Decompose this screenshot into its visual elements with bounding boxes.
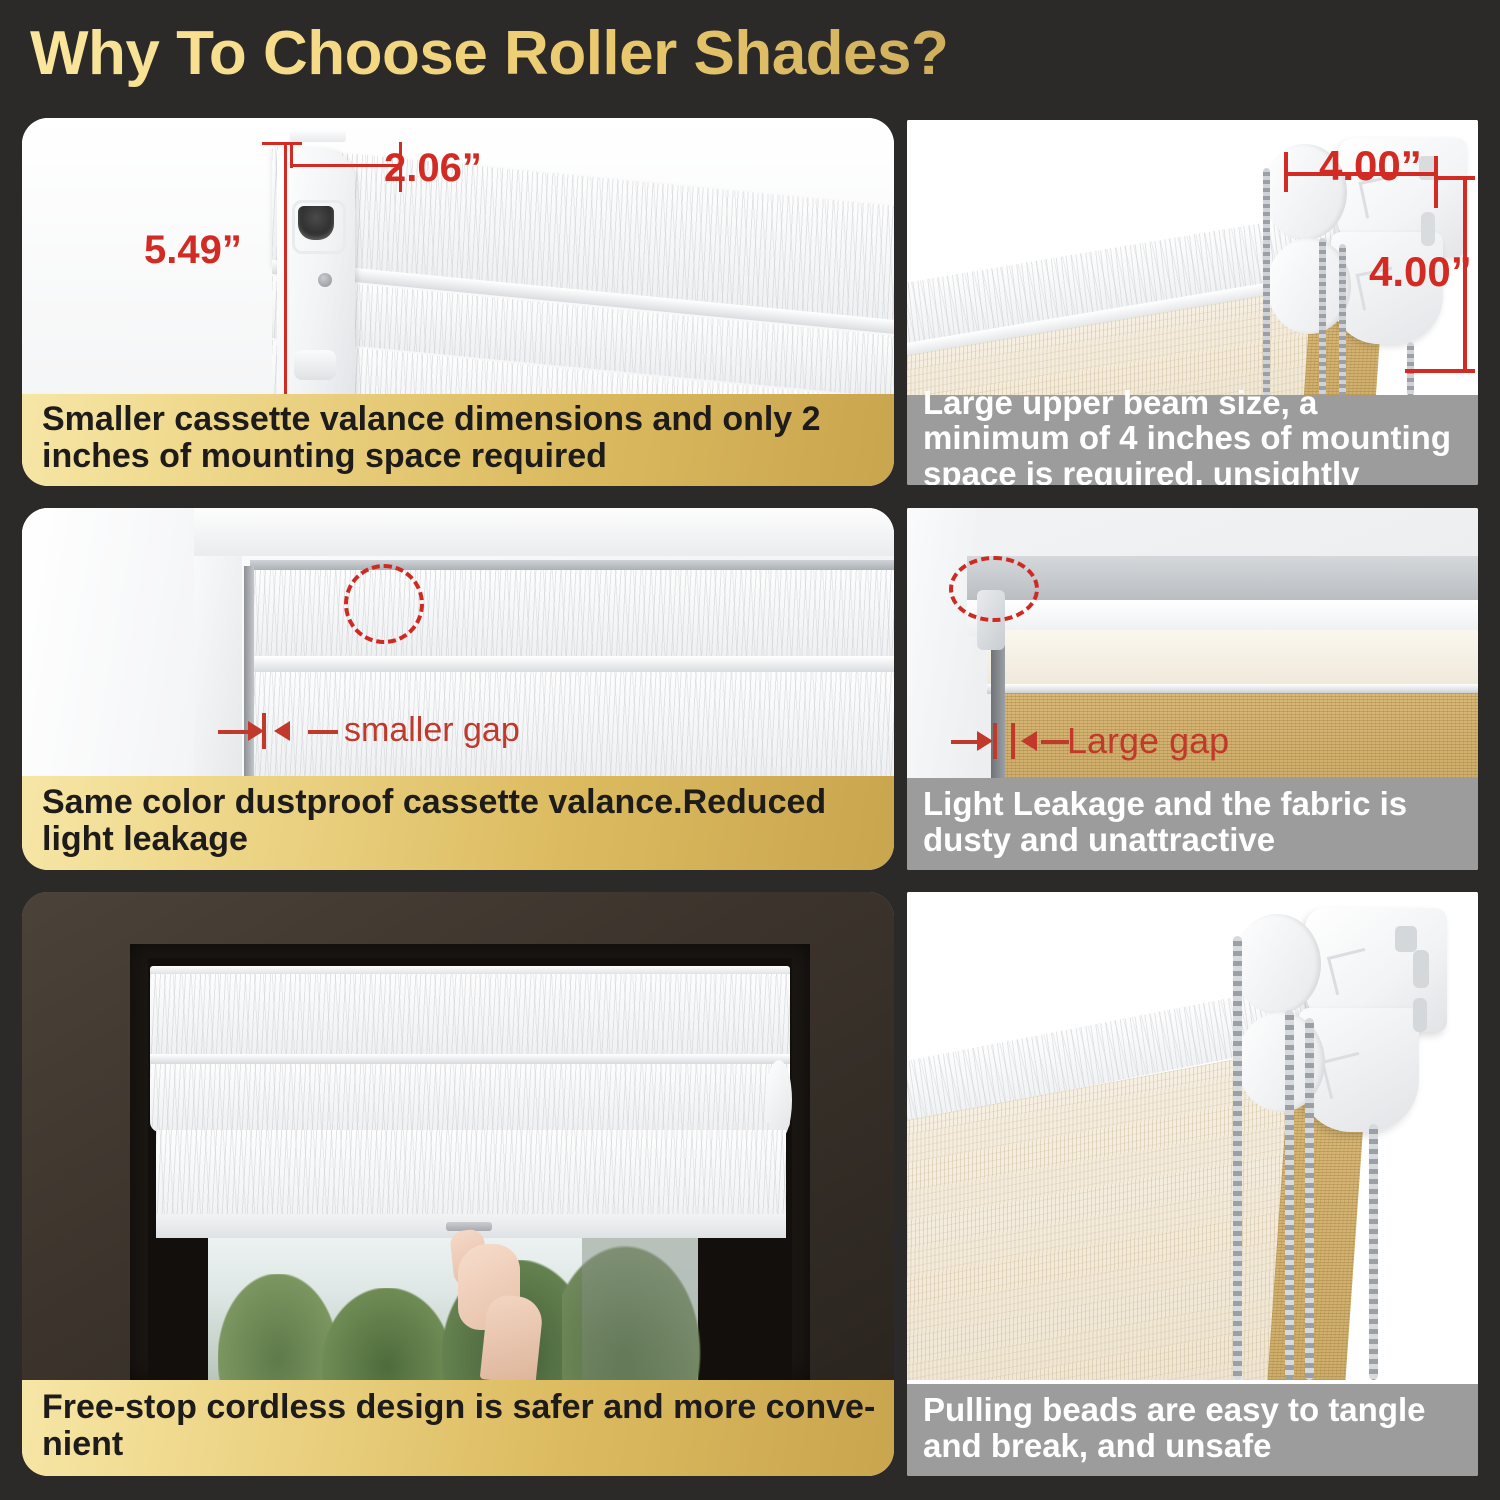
roller-end-cap [766,1060,792,1140]
highlight-circle-gap [344,564,424,644]
panel-pro-cassette-dimensions: 2.06” 5.49” Smaller cassette valance dim… [22,118,894,486]
caption-bar-con-pulling-beads: Pulling beads are easy to tangle and bre… [907,1384,1478,1476]
panel-con-pulling-beads: Pulling beads are easy to tangle and bre… [907,892,1478,1476]
bead-chain-2 [1319,238,1326,395]
panel-pro-cordless-design: Free-stop cordless design is safer and m… [22,892,894,1476]
caption-text: Pulling beads are easy to tangle and bre… [923,1392,1464,1463]
cassette-lower-clip [294,350,336,380]
caption-bar-pro-cassette-dimensions: Smaller cassette valance dimensions and … [22,394,894,486]
screw-icon [318,273,332,287]
dim-width-tick-right-beam [1434,156,1438,208]
fabric-cream-band [987,630,1478,686]
cassette-bracket-ring [292,200,346,254]
gap-arrow-right-shaft [308,730,338,734]
bracket-hole-top [1395,926,1417,952]
dim-height-line [284,142,287,408]
large-gap-tick-right [1011,723,1015,759]
window-glass-reflection [582,1230,698,1380]
bead-chain-3 [1339,244,1346,395]
caption-text: Free-stop cordless design is safer and m… [42,1389,876,1462]
dim-height-tick-top [262,142,302,145]
bead-chain-mid-b [1305,1018,1314,1380]
panel-image-smaller-gap: smaller gap [22,508,894,776]
caption-bar-con-upper-beam-size: Large upper beam size, a minimum of 4 in… [907,395,1478,485]
bead-chain-left [1233,936,1242,1380]
window-wall [22,508,200,776]
wall-left [907,508,977,778]
panel-image-upper-beam: 4.00” 4.00” [907,120,1478,395]
panel-image-pulling-beads [907,892,1478,1380]
dim-height-tick-bottom-beam [1405,369,1475,373]
gap-label-large: Large gap [1067,720,1229,762]
dim-height-label-beam: 4.00” [1369,248,1472,296]
panel-image-large-gap: Large gap [907,508,1478,778]
shade-left-edge-shadow [244,566,254,776]
dim-width-label-beam: 4.00” [1319,142,1422,190]
highlight-circle-large-gap [949,556,1039,622]
dim-width-tick-left [290,142,293,168]
bead-chain-1 [1263,168,1270,395]
large-gap-arrow-left-head [977,731,993,751]
large-gap-arrow-right-shaft [1041,740,1069,744]
caption-bar-con-large-gap: Light Leakage and the fabric is dusty an… [907,778,1478,870]
tree-left [218,1274,338,1380]
valance-face [150,974,790,1058]
valance-bottom-lip [250,656,894,672]
infographic-root: Why To Choose Roller Shades? 2.06” [0,0,1500,1500]
window-casing-top [194,508,894,556]
bracket-hole-side-bottom [1413,998,1427,1032]
panel-pro-smaller-gap: smaller gap Same color dustproof cassett… [22,508,894,870]
caption-text: Smaller cassette valance dimensions and … [42,401,876,474]
panel-con-upper-beam-size: 4.00” 4.00” Large upper beam size, a min… [907,120,1478,485]
dim-height-tick-top-beam [1435,176,1475,180]
dim-width-label: 2.06” [384,146,482,191]
panel-image-cordless-window [22,892,894,1380]
bracket-hole-side-top [1413,950,1429,988]
page-title: Why To Choose Roller Shades? [30,18,948,89]
caption-text: Light Leakage and the fabric is dusty an… [923,786,1464,857]
caption-text: Large upper beam size, a minimum of 4 in… [923,385,1464,485]
panel-con-large-gap: Large gap Light Leakage and the fabric i… [907,508,1478,870]
panel-image-cassette-valance: 2.06” 5.49” [22,118,894,408]
large-gap-arrow-right-head [1021,731,1037,751]
caption-bar-pro-cordless-design: Free-stop cordless design is safer and m… [22,1380,894,1476]
hand-forearm [480,1293,545,1380]
tree-mid [322,1288,452,1380]
large-gap-tick-left [993,723,997,759]
gap-arrow-right-head [274,721,290,741]
gap-label-smaller: smaller gap [344,711,520,750]
caption-text: Same color dustproof cassette valance.Re… [42,784,876,857]
gap-tick [262,713,266,749]
caption-bar-pro-smaller-gap: Same color dustproof cassette valance.Re… [22,776,894,870]
bead-chain-right [1369,1124,1378,1380]
upper-beam-gray [967,556,1478,604]
gap-arrow-left-shaft [218,730,252,734]
bracket-slot-side [1421,212,1435,246]
bead-chain-mid-a [1285,1010,1294,1380]
roller-disc-top [1233,914,1321,1014]
roller-tube-front [150,1064,790,1132]
dim-height-label: 5.49” [144,228,242,273]
cassette-top-lip [290,130,346,142]
dim-width-tick-left-beam [1284,152,1288,192]
